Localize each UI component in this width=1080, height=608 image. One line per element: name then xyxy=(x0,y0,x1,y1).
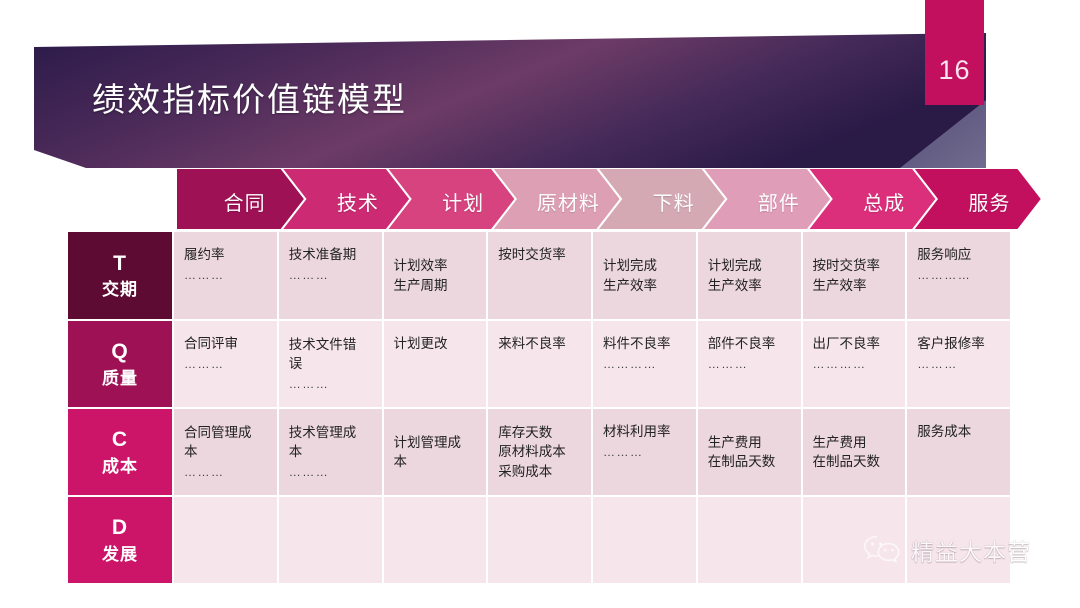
matrix-cell: 技术文件错误……… xyxy=(279,321,382,407)
cell-line: 本 xyxy=(394,452,479,471)
cell-line: 技术管理成 xyxy=(289,423,374,442)
cell-line: 生产效率 xyxy=(708,276,793,295)
cell-line: 来料不良率 xyxy=(498,334,583,353)
cell-ellipsis: ……… xyxy=(289,267,374,284)
cell-line: 采购成本 xyxy=(498,462,583,481)
row-header-letter: D xyxy=(112,515,128,541)
cell-line: 出厂不良率 xyxy=(813,334,898,353)
matrix-cell: 按时交货率生产效率 xyxy=(803,232,906,319)
matrix-cell: 计划效率生产周期 xyxy=(384,232,487,319)
watermark-text: 精益大本营 xyxy=(911,533,1031,567)
matrix-cell: 计划管理成本 xyxy=(384,409,487,495)
cell-line: 生产费用 xyxy=(708,433,793,452)
matrix-cell: 库存天数原材料成本采购成本 xyxy=(488,409,591,495)
page-number: 16 xyxy=(925,55,984,86)
cell-line: 计划更改 xyxy=(394,334,479,353)
chevron-label-1: 合同 xyxy=(180,187,309,216)
chevron-label-7: 总成 xyxy=(832,187,937,216)
cell-line: 在制品天数 xyxy=(708,452,793,471)
cell-ellipsis: ……… xyxy=(917,356,1002,373)
cell-line: 生产效率 xyxy=(603,276,688,295)
row-header-label: 发展 xyxy=(102,544,138,565)
matrix-cell: 部件不良率……… xyxy=(698,321,801,407)
cell-line: 生产周期 xyxy=(394,276,479,295)
matrix-cell: 技术准备期……… xyxy=(279,232,382,319)
matrix-cell: 服务响应………… xyxy=(907,232,1010,319)
row-header-label: 质量 xyxy=(102,368,138,389)
cell-line: 技术文件错 xyxy=(289,335,374,354)
chevron-label-8: 服务 xyxy=(937,187,1042,216)
matrix-cell: 合同评审……… xyxy=(174,321,277,407)
matrix-cell: 服务成本 xyxy=(907,409,1010,495)
title-banner-shape xyxy=(0,0,1080,180)
cell-line: 按时交货率 xyxy=(813,256,898,275)
cell-line: 部件不良率 xyxy=(708,334,793,353)
chevron-label-4: 原材料 xyxy=(516,187,621,216)
cell-line: 计划完成 xyxy=(603,256,688,275)
matrix-cell: 履约率……… xyxy=(174,232,277,319)
cell-line: 材料利用率 xyxy=(603,422,688,441)
matrix-row-header-c: C成本 xyxy=(68,409,172,495)
cell-ellipsis: ……… xyxy=(184,356,269,373)
matrix-cell xyxy=(488,497,591,583)
matrix-cell: 出厂不良率………… xyxy=(803,321,906,407)
matrix-cell: 计划完成生产效率 xyxy=(593,232,696,319)
chevron-label-3: 计划 xyxy=(411,187,516,216)
cell-line: 在制品天数 xyxy=(813,452,898,471)
wechat-icon xyxy=(862,533,902,567)
cell-ellipsis: ……… xyxy=(184,464,269,481)
cell-line: 计划完成 xyxy=(708,256,793,275)
process-chevron-strip: 合同技术计划原材料下料部件总成服务 xyxy=(176,168,1042,230)
matrix-cell: 生产费用在制品天数 xyxy=(803,409,906,495)
slide-canvas: 绩效指标价值链模型 16 合同技术计划原材料下料部件总成服务 T交期履约率………… xyxy=(0,0,1080,608)
matrix-row-header-q: Q质量 xyxy=(68,321,172,407)
chevron-label-5: 下料 xyxy=(621,187,726,216)
matrix-cell: 生产费用在制品天数 xyxy=(698,409,801,495)
cell-line: 本 xyxy=(289,442,374,461)
cell-line: 合同评审 xyxy=(184,334,269,353)
cell-line: 合同管理成 xyxy=(184,423,269,442)
matrix-row-header-t: T交期 xyxy=(68,232,172,319)
matrix-cell: 料件不良率………… xyxy=(593,321,696,407)
row-header-label: 成本 xyxy=(102,456,138,477)
row-header-label: 交期 xyxy=(102,279,138,300)
cell-line: 库存天数 xyxy=(498,423,583,442)
kpi-matrix: T交期履约率………技术准备期………计划效率生产周期按时交货率计划完成生产效率计划… xyxy=(68,232,1010,577)
row-header-letter: T xyxy=(113,251,127,277)
cell-ellipsis: ………… xyxy=(813,356,898,373)
matrix-row-header-d: D发展 xyxy=(68,497,172,583)
matrix-cell xyxy=(279,497,382,583)
watermark: 精益大本营 xyxy=(862,533,1031,567)
matrix-cell: 合同管理成本……… xyxy=(174,409,277,495)
cell-line: 客户报修率 xyxy=(917,334,1002,353)
row-header-letter: C xyxy=(112,427,128,453)
cell-line: 原材料成本 xyxy=(498,442,583,461)
cell-line: 误 xyxy=(289,354,374,373)
cell-line: 技术准备期 xyxy=(289,245,374,264)
matrix-cell xyxy=(593,497,696,583)
matrix-cell: 客户报修率……… xyxy=(907,321,1010,407)
cell-line: 服务成本 xyxy=(917,422,1002,441)
cell-line: 履约率 xyxy=(184,245,269,264)
cell-ellipsis: ………… xyxy=(917,267,1002,284)
cell-line: 按时交货率 xyxy=(498,245,583,264)
page-title: 绩效指标价值链模型 xyxy=(92,73,407,121)
cell-ellipsis: ……… xyxy=(184,267,269,284)
cell-ellipsis: ………… xyxy=(603,356,688,373)
page-number-badge: 16 xyxy=(925,0,984,105)
cell-line: 料件不良率 xyxy=(603,334,688,353)
chevron-label-2: 技术 xyxy=(305,187,410,216)
matrix-cell: 技术管理成本……… xyxy=(279,409,382,495)
matrix-cell xyxy=(384,497,487,583)
cell-ellipsis: ……… xyxy=(289,464,374,481)
cell-line: 计划效率 xyxy=(394,256,479,275)
matrix-cell xyxy=(174,497,277,583)
matrix-cell xyxy=(698,497,801,583)
cell-ellipsis: ……… xyxy=(708,356,793,373)
banner-fold xyxy=(900,100,986,168)
cell-ellipsis: ……… xyxy=(603,444,688,461)
chevron-label-6: 部件 xyxy=(726,187,831,216)
matrix-cell: 材料利用率……… xyxy=(593,409,696,495)
banner-body xyxy=(34,33,986,168)
cell-line: 生产费用 xyxy=(813,433,898,452)
title-banner: 绩效指标价值链模型 xyxy=(0,0,1080,180)
matrix-cell: 计划完成生产效率 xyxy=(698,232,801,319)
cell-line: 服务响应 xyxy=(917,245,1002,264)
cell-ellipsis: ……… xyxy=(289,376,374,393)
cell-line: 本 xyxy=(184,442,269,461)
row-header-letter: Q xyxy=(111,339,128,365)
cell-line: 计划管理成 xyxy=(394,433,479,452)
matrix-cell: 按时交货率 xyxy=(488,232,591,319)
cell-line: 生产效率 xyxy=(813,276,898,295)
matrix-cell: 来料不良率 xyxy=(488,321,591,407)
matrix-cell: 计划更改 xyxy=(384,321,487,407)
